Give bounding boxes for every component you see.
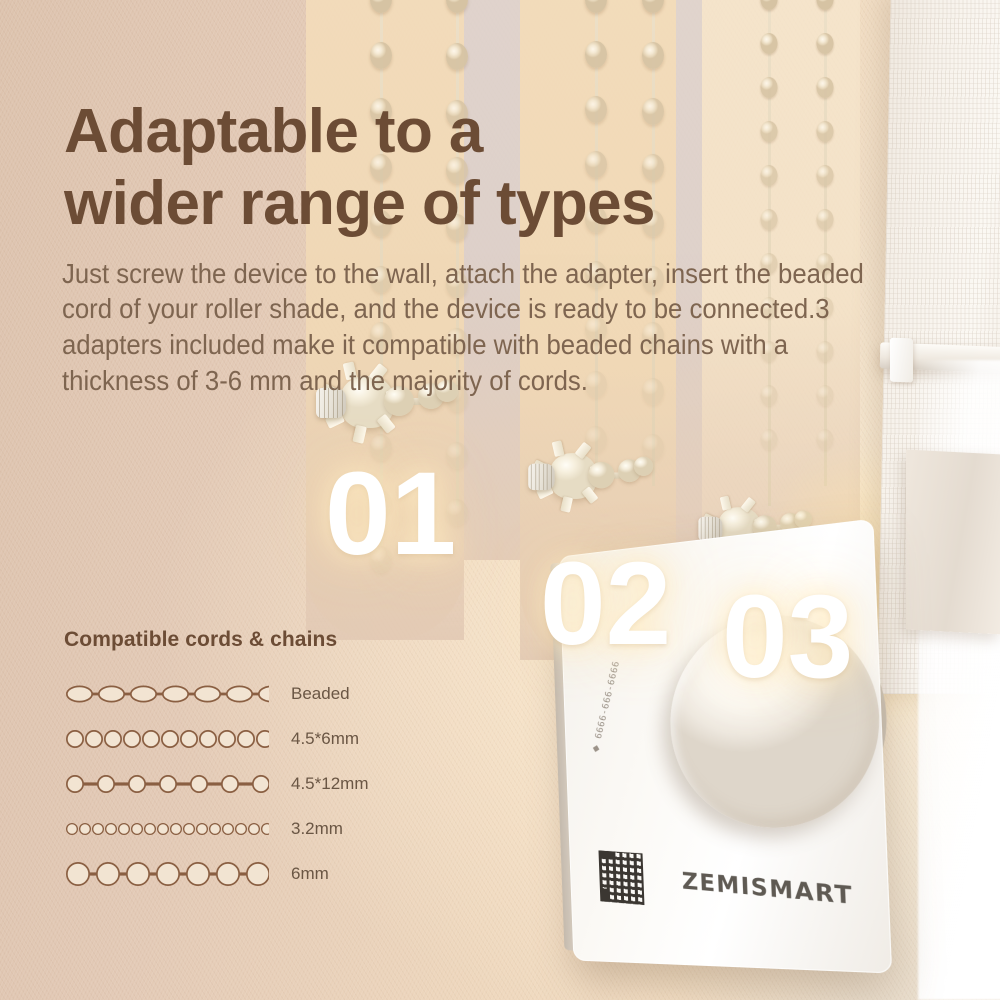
step-number-02: 02: [540, 545, 671, 663]
product-marketing-image: ◆ 6666-666-6666 ZEMISMART 010203 Adaptab…: [0, 0, 1000, 1000]
adapter-bead: [588, 462, 614, 488]
chain-bead: [446, 43, 468, 70]
adapter-tooth: [552, 440, 565, 457]
headline-line-1: Adaptable to a: [64, 96, 764, 169]
legend-label: 6mm: [269, 864, 329, 884]
legend-row: 6mm: [64, 854, 404, 893]
chain-large-circles: [64, 859, 269, 889]
qr-code: [598, 850, 644, 905]
adapter-tooth: [560, 496, 573, 513]
legend-label: 4.5*12mm: [269, 774, 368, 794]
chain-bead: [370, 0, 392, 13]
adapter-bead: [634, 457, 653, 476]
wall-panel: [906, 449, 1000, 634]
chain-bead: [816, 121, 833, 142]
chain-bead: [585, 0, 607, 13]
chain-oval-link: [64, 679, 269, 709]
adapter-sleeve: [528, 464, 554, 490]
legend-rows: Beaded4.5*6mm4.5*12mm3.2mm6mm: [64, 674, 404, 893]
bead-chain-4: [640, 0, 666, 486]
step-number-01: 01: [325, 455, 456, 573]
legend-row: 4.5*6mm: [64, 719, 404, 758]
chain-bead: [760, 33, 777, 54]
adapter-2: [530, 432, 662, 529]
legend-title: Compatible cords & chains: [64, 628, 404, 652]
chain-bead: [816, 0, 833, 10]
chain-bead: [370, 42, 392, 69]
legend-label: Beaded: [269, 684, 350, 704]
legend-row: 4.5*12mm: [64, 764, 404, 803]
adapter-tooth: [352, 425, 367, 444]
chain-bead: [816, 165, 833, 186]
step-number-03: 03: [722, 578, 853, 696]
chain-bead: [816, 209, 833, 230]
legend-row: 3.2mm: [64, 809, 404, 848]
chain-fine-circles: [64, 814, 269, 844]
adapter-tooth: [377, 414, 396, 434]
chain-bead: [642, 0, 664, 13]
chain-touching-circles: [64, 724, 269, 754]
legend-row: Beaded: [64, 674, 404, 713]
chain-bead: [446, 0, 468, 13]
chain-bead: [585, 41, 607, 68]
chain-bead: [642, 42, 664, 69]
blind-pull-tab: [890, 338, 913, 383]
chain-cord: [652, 0, 655, 486]
chain-bead: [816, 77, 833, 98]
chain-bead: [760, 0, 777, 10]
page-title: Adaptable to a wider range of types: [64, 96, 764, 241]
legend-label: 4.5*6mm: [269, 729, 359, 749]
compatible-cords-legend: Compatible cords & chains Beaded4.5*6mm4…: [64, 628, 404, 899]
headline-line-2: wider range of types: [64, 168, 764, 241]
chain-long-link: [64, 769, 269, 799]
chain-bead: [816, 33, 833, 54]
adapter-tooth: [582, 486, 599, 504]
body-paragraph: Just screw the device to the wall, attac…: [62, 256, 868, 399]
legend-label: 3.2mm: [269, 819, 343, 839]
